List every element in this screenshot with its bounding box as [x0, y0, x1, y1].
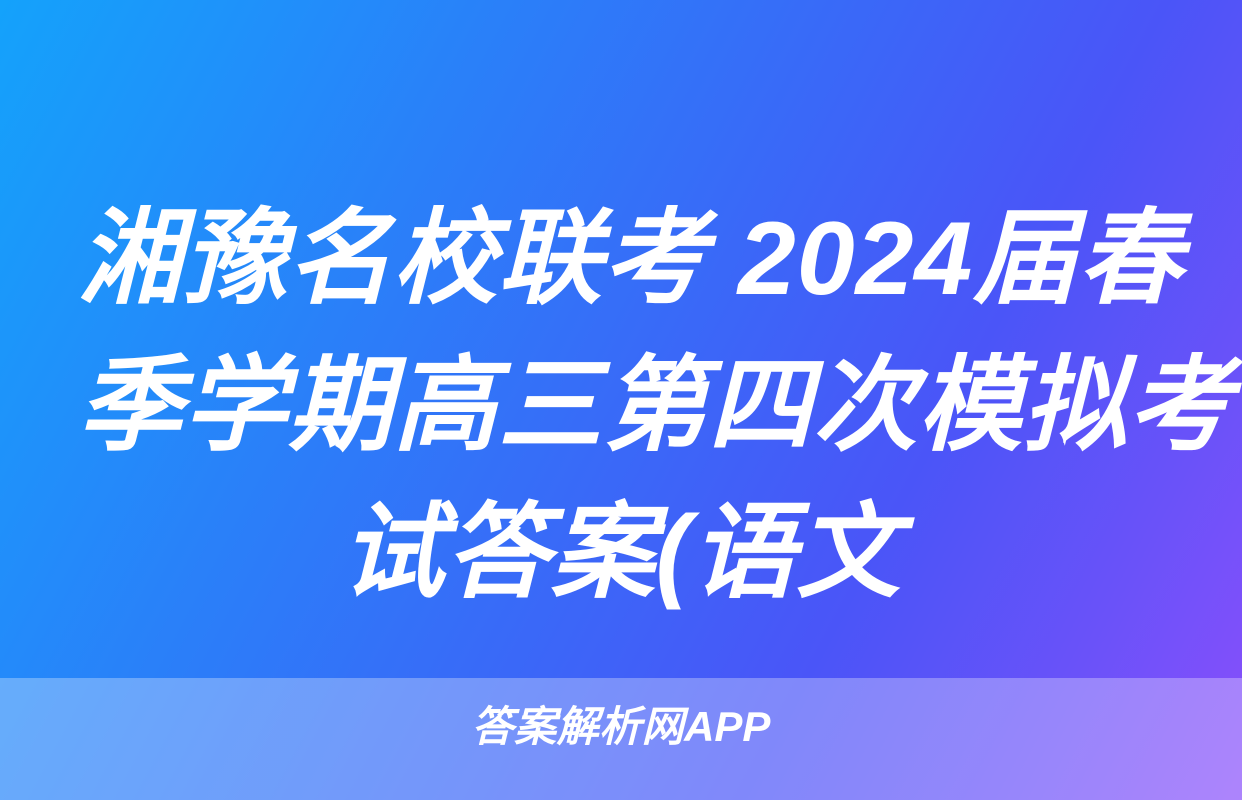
promo-card: 湘豫名校联考 2024届春 季学期高三第四次模拟考 试答案(语文 答案解析网AP…: [0, 0, 1242, 800]
headline-line-2: 季学期高三第四次模拟考: [78, 333, 1164, 480]
headline-line-3: 试答案(语文: [78, 480, 1164, 627]
headline-line-1: 湘豫名校联考 2024届春: [78, 186, 1164, 333]
watermark-label: 答案解析网APP: [0, 702, 1242, 752]
watermark-chinese: 答案解析网: [472, 703, 685, 750]
watermark-latin: APP: [684, 703, 770, 750]
headline-text: 湘豫名校联考 2024届春 季学期高三第四次模拟考 试答案(语文: [0, 186, 1242, 627]
